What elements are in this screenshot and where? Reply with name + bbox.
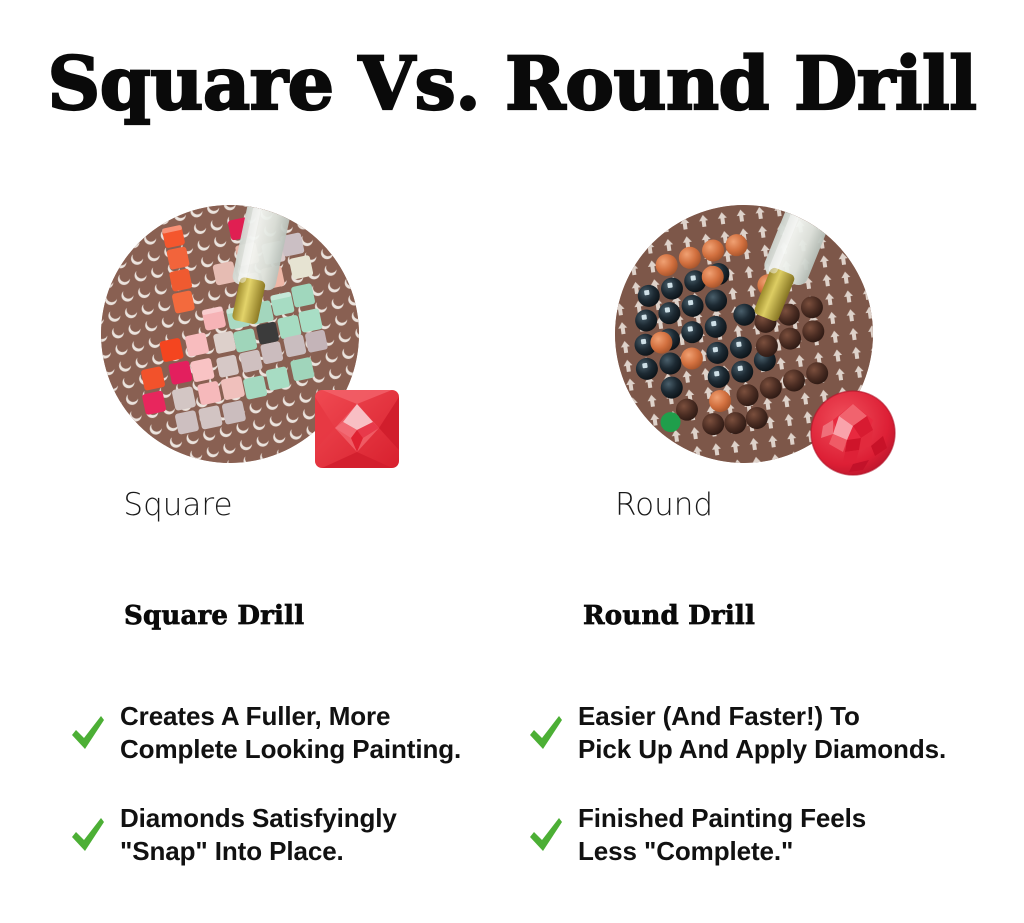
caption-round: Round	[408, 485, 920, 525]
square-drill-heading: Square Drill	[124, 600, 540, 632]
green-check-icon	[528, 815, 564, 855]
green-check-icon	[528, 713, 564, 753]
green-check-icon	[70, 815, 106, 855]
round-drill-bullet-list: Easier (And Faster!) To Pick Up And Appl…	[528, 700, 998, 868]
list-item: Creates A Fuller, More Complete Looking …	[70, 700, 540, 766]
bullet-text: Finished Painting Feels Less "Complete."	[578, 802, 866, 868]
red-round-gem	[809, 390, 897, 476]
bullet-text: Diamonds Satisfyingly "Snap" Into Place.	[120, 802, 397, 868]
bullet-text: Creates A Fuller, More Complete Looking …	[120, 700, 461, 766]
list-item: Finished Painting Feels Less "Complete."	[528, 802, 998, 868]
page-title: Square Vs. Round Drill	[0, 48, 1024, 121]
square-photo-column	[0, 196, 512, 496]
square-drill-column: Square Drill Creates A Fuller, More Comp…	[70, 600, 540, 868]
square-drill-bullet-list: Creates A Fuller, More Complete Looking …	[70, 700, 540, 868]
green-check-icon	[70, 713, 106, 753]
round-drill-heading: Round Drill	[583, 600, 998, 632]
photo-captions: Square Round	[0, 485, 1024, 535]
list-item: Easier (And Faster!) To Pick Up And Appl…	[528, 700, 998, 766]
photo-row	[0, 196, 1024, 496]
list-item: Diamonds Satisfyingly "Snap" Into Place.	[70, 802, 540, 868]
red-square-gem	[313, 388, 401, 470]
caption-square: Square	[0, 485, 434, 525]
round-photo-column	[512, 196, 1024, 496]
comparison-section: Square Drill Creates A Fuller, More Comp…	[0, 600, 1024, 880]
bullet-text: Easier (And Faster!) To Pick Up And Appl…	[578, 700, 946, 766]
round-drill-column: Round Drill Easier (And Faster!) To Pick…	[528, 600, 998, 868]
infographic-page: Square Vs. Round Drill	[0, 0, 1024, 923]
